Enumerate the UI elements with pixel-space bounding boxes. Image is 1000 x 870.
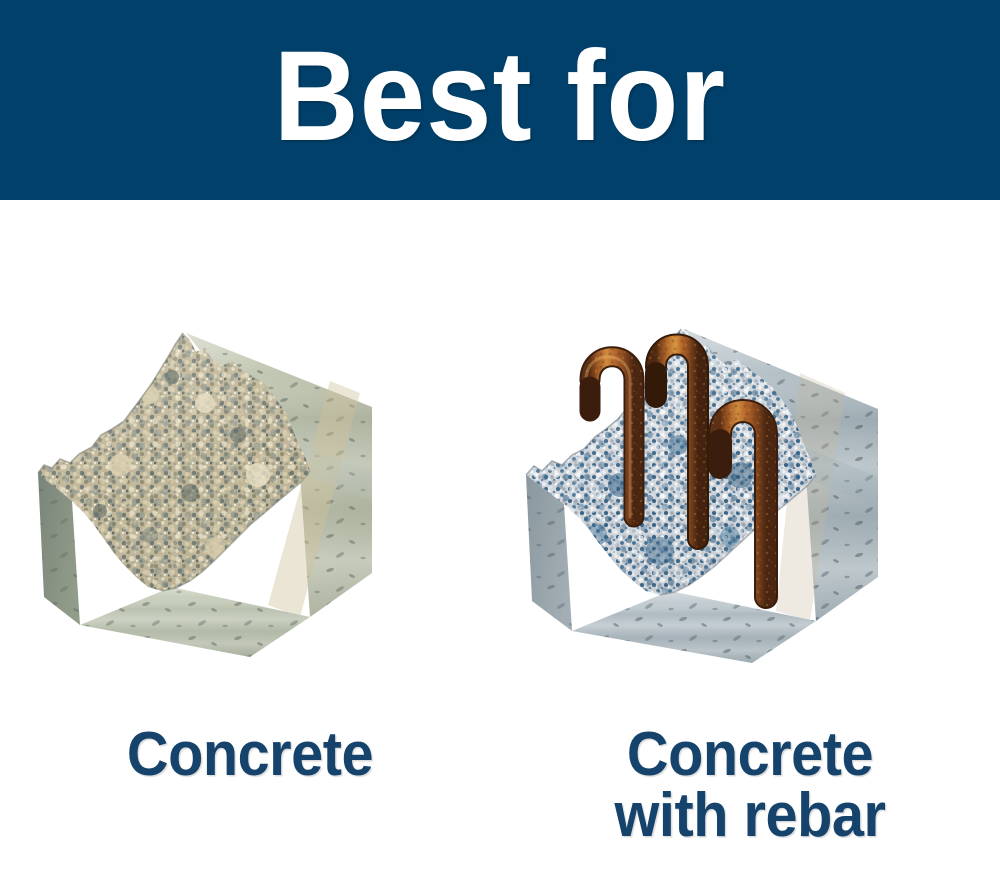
concrete-rebar-block-illustration: [500, 325, 1000, 685]
best-for-graphic: Best for: [0, 0, 1000, 870]
caption-rebar-line-1: Concrete: [518, 725, 983, 786]
panel-concrete-with-rebar: Concrete with rebar: [500, 200, 1000, 870]
panels-container: Concrete: [0, 200, 1000, 870]
caption-concrete-with-rebar: Concrete with rebar: [518, 725, 983, 847]
panel-concrete: Concrete: [0, 200, 500, 870]
concrete-block-illustration: [0, 325, 500, 685]
caption-rebar-line-2: with rebar: [518, 786, 983, 847]
caption-concrete-line-1: Concrete: [18, 725, 483, 786]
concrete-rebar-block-svg: [500, 325, 1000, 685]
caption-concrete: Concrete: [18, 725, 483, 786]
concrete-block-svg: [0, 325, 500, 685]
header-banner: Best for: [0, 0, 1000, 200]
page-title: Best for: [274, 33, 726, 161]
